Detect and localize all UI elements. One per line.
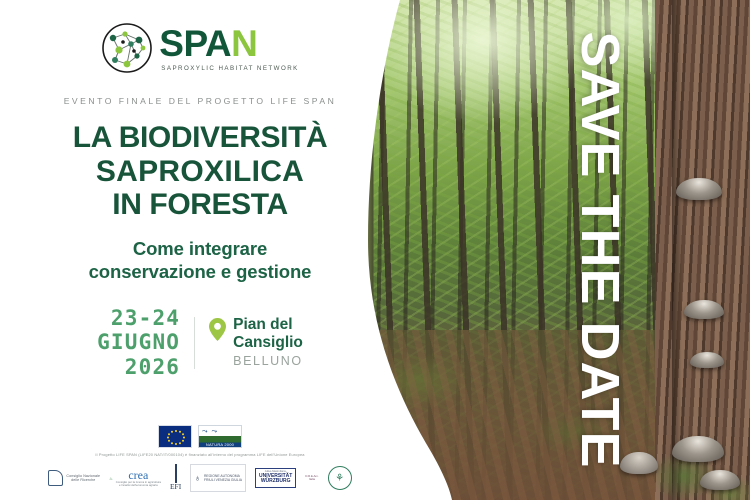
dream-wrap: D.R.E.Am. Italia — [305, 475, 318, 481]
efi-wrap: EFI — [170, 465, 181, 491]
funding-disclaimer: Il Progetto LIFE SPAN (LIFE20 NAT/IT/000… — [0, 452, 400, 457]
fvg-line-2: FRIULI VENEZIA GIULIA — [204, 478, 242, 482]
efi-label: EFI — [170, 483, 181, 491]
event-date-month: GIUGNO — [97, 330, 180, 355]
cnr-line-2: delle Ricerche — [66, 478, 100, 482]
logo-word: SPAN — [159, 25, 257, 62]
poster-content: SPAN SAPROXYLIC HABITAT NETWORK EVENTO F… — [0, 0, 400, 500]
bracket-fungus-icon — [672, 436, 724, 462]
eyebrow-text: EVENTO FINALE DEL PROGETTO LIFE SPAN — [0, 96, 400, 106]
headline-line-1: LA BIODIVERSITÀ — [16, 121, 384, 155]
location-line-2: Cansiglio — [233, 334, 303, 352]
partner-logos: Consiglio Nazionale delle Ricerche ♨ cre… — [0, 464, 400, 492]
subtitle: Come integrare conservazione e gestione — [0, 238, 400, 284]
logo-word-accent: N — [231, 23, 257, 64]
wuerzburg-line-2: WÜRZBURG — [259, 479, 292, 485]
natura-2000-birds-icon: ⤳ ⤳ — [202, 428, 218, 436]
location-line-1: Pian del — [233, 316, 303, 334]
location-text: Pian del Cansiglio BELLUNO — [233, 316, 303, 369]
veneto-agricoltura-seal-icon: ⚘ — [328, 466, 352, 490]
partner-logo-veneto-agricoltura: ⚘ — [328, 464, 352, 492]
cnr-label: Consiglio Nazionale delle Ricerche — [66, 474, 100, 483]
european-union-flag-icon: european-union-flag — [158, 425, 192, 448]
partner-logo-crea: ♨ crea Consiglio per la ricerca in agric… — [109, 464, 161, 492]
span-logo: SPAN SAPROXYLIC HABITAT NETWORK — [0, 0, 400, 74]
save-the-date-banner: SAVE THE DATE — [569, 0, 631, 500]
partner-logo-uni-wuerzburg: Julius-Maximilians- UNIVERSITÄT WÜRZBURG — [255, 464, 296, 492]
headline-line-3: IN FORESTA — [16, 188, 384, 222]
cnr-icon — [48, 470, 63, 486]
network-graph-icon — [101, 22, 153, 74]
crea-line-2: e l'analisi dell'economia agraria — [116, 484, 161, 487]
crea-word: crea — [116, 469, 161, 481]
logo-tagline: SAPROXYLIC HABITAT NETWORK — [161, 65, 298, 72]
event-date: 23-24 GIUGNO 2026 — [97, 306, 194, 380]
save-the-date-poster: SPAN SAPROXYLIC HABITAT NETWORK EVENTO F… — [0, 0, 750, 500]
crea-label: crea Consiglio per la ricerca in agricol… — [116, 469, 161, 488]
subtitle-line-2: conservazione e gestione — [0, 261, 400, 284]
logo-word-main: SPA — [159, 23, 231, 64]
partner-logo-cnr: Consiglio Nazionale delle Ricerche — [48, 464, 100, 492]
event-date-year: 2026 — [97, 355, 180, 380]
fvg-label: REGIONE AUTONOMA FRIULI VENEZIA GIULIA — [204, 474, 242, 483]
headline-line-2: SAPROXILICA — [16, 155, 384, 189]
tree-bark-photo — [655, 0, 750, 500]
location-pin-icon — [209, 318, 226, 341]
footer: european-union-flag ⤳ ⤳ — [0, 425, 400, 492]
logo-wordmark: SPAN SAPROXYLIC HABITAT NETWORK — [159, 25, 298, 72]
page-title: LA BIODIVERSITÀ SAPROXILICA IN FORESTA — [0, 121, 400, 222]
bracket-fungus-icon — [684, 300, 724, 319]
partner-logo-regione-fvg: ♁ REGIONE AUTONOMA FRIULI VENEZIA GIULIA — [190, 464, 246, 492]
location-province: BELLUNO — [233, 353, 303, 370]
bracket-fungus-icon — [676, 178, 722, 200]
natura-2000-label: NATURA 2000 — [199, 442, 241, 447]
bracket-fungus-icon — [690, 352, 724, 368]
bracket-fungus-icon — [700, 470, 740, 490]
partner-logo-dream: D.R.E.Am. Italia — [305, 464, 318, 492]
event-details: 23-24 GIUGNO 2026 Pian del Cansiglio BEL… — [0, 306, 400, 380]
wuerzburg-label: Julius-Maximilians- UNIVERSITÄT WÜRZBURG — [255, 468, 296, 488]
event-location: Pian del Cansiglio BELLUNO — [195, 316, 303, 369]
crea-icon: ♨ — [109, 476, 113, 481]
eu-logos-row: european-union-flag ⤳ ⤳ — [0, 425, 400, 448]
natura-2000-logo: ⤳ ⤳ NATURA 2000 — [198, 425, 242, 448]
dream-line-2: Italia — [305, 478, 318, 481]
fvg-eagle-icon: ♁ — [194, 474, 201, 483]
subtitle-line-1: Come integrare — [0, 238, 400, 261]
event-date-days: 23-24 — [97, 306, 180, 331]
efi-leaf-icon — [175, 464, 177, 483]
bark-seam — [672, 0, 682, 500]
partner-logo-efi: EFI — [170, 464, 181, 492]
